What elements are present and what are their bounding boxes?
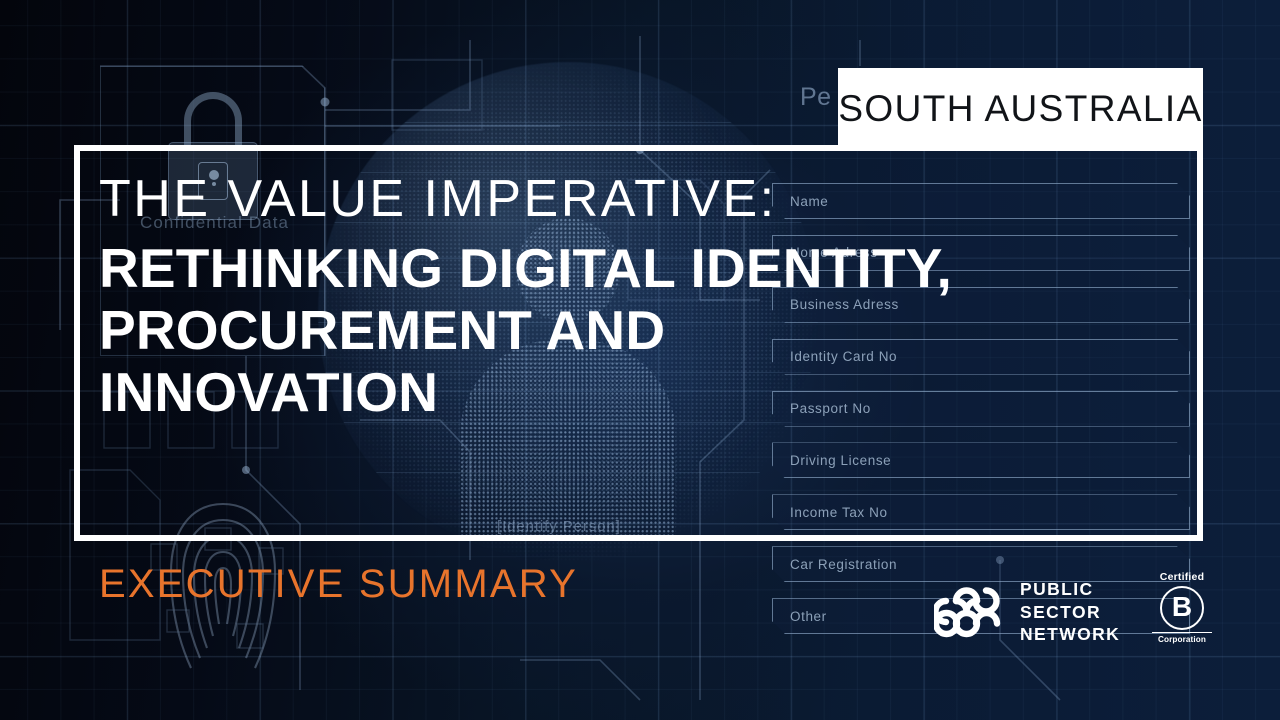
title-line-2: RETHINKING DIGITAL IDENTITY, xyxy=(99,237,1189,299)
personal-data-label: Pe xyxy=(800,83,832,112)
title-block: THE VALUE IMPERATIVE: RETHINKING DIGITAL… xyxy=(99,172,1189,424)
form-field-label: Driving License xyxy=(773,453,891,468)
psn-wordmark: PUBLIC SECTOR NETWORK xyxy=(1020,578,1120,646)
title-line-3: PROCUREMENT AND xyxy=(99,299,1189,361)
form-field[interactable]: Income Tax No xyxy=(772,494,1190,530)
public-sector-network-logo: PUBLIC SECTOR NETWORK xyxy=(934,568,1130,656)
title-main: RETHINKING DIGITAL IDENTITY, PROCUREMENT… xyxy=(99,237,1189,423)
slide-canvas: Confidential Data xyxy=(0,0,1280,720)
form-field-label: Car Registration xyxy=(773,557,897,572)
title-line-4: INNOVATION xyxy=(99,361,1189,423)
region-banner: SOUTH AUSTRALIA xyxy=(838,68,1203,150)
form-field[interactable]: Driving License xyxy=(772,442,1190,478)
identify-person-label: [Identify Person] xyxy=(497,518,621,535)
bcorp-certification-logo: Certified B Corporation xyxy=(1152,572,1212,656)
bcorp-corporation-label: Corporation xyxy=(1152,632,1212,644)
psn-line-2: SECTOR xyxy=(1020,601,1120,624)
region-banner-label: SOUTH AUSTRALIA xyxy=(838,88,1202,130)
form-field-label: Income Tax No xyxy=(773,505,888,520)
psn-line-1: PUBLIC xyxy=(1020,578,1120,601)
psn-rings-icon xyxy=(934,577,1008,647)
subtitle-executive-summary: EXECUTIVE SUMMARY xyxy=(99,562,578,607)
bcorp-b-letter: B xyxy=(1172,593,1192,621)
psn-line-3: NETWORK xyxy=(1020,623,1120,646)
bcorp-certified-label: Certified xyxy=(1152,572,1212,583)
title-line-1: THE VALUE IMPERATIVE: xyxy=(99,172,1189,227)
form-field-label: Other xyxy=(773,609,827,624)
bcorp-b-icon: B xyxy=(1160,586,1204,630)
